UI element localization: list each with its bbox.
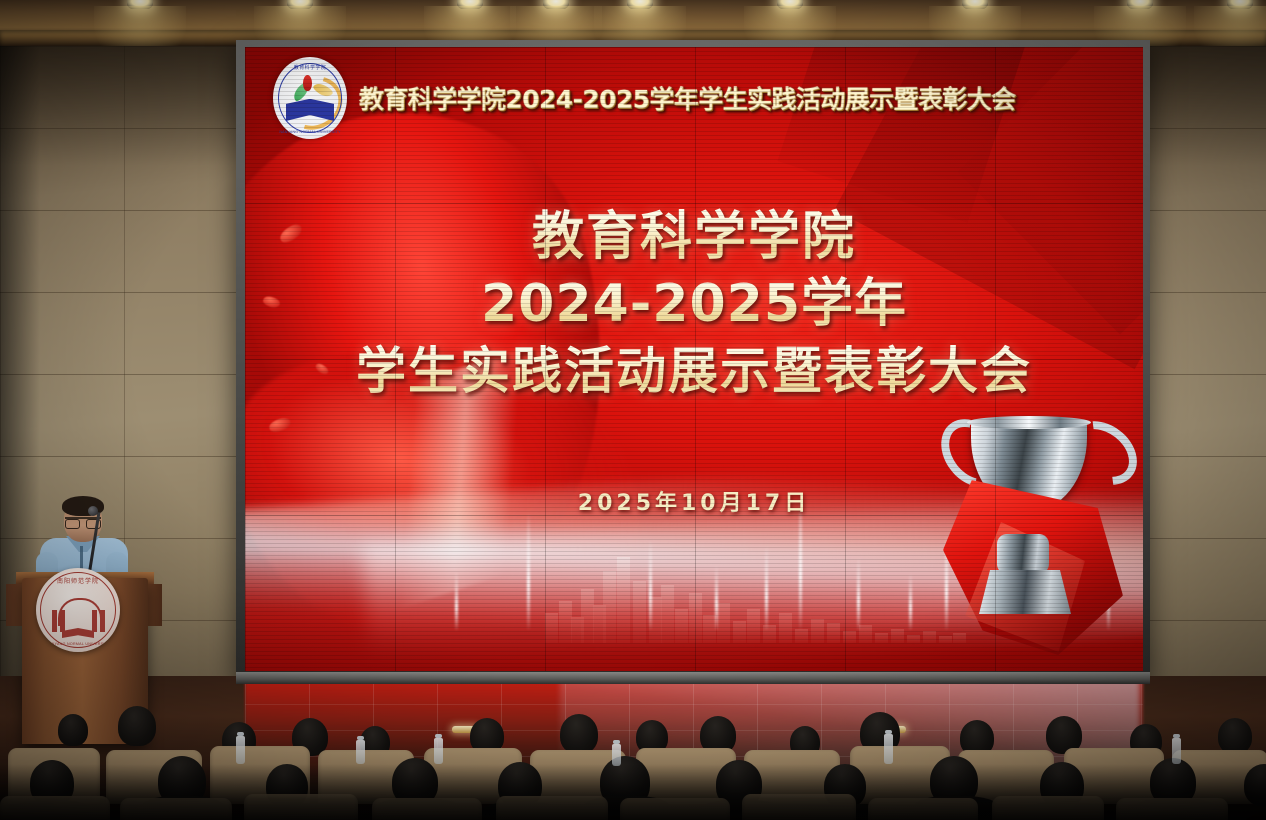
led-screen: 教育科学学院 NANYANG NORMAL UNIVERSITY 教育科学学院2… [245,47,1143,671]
university-seal-icon: 南阳师范学院 NANYANG NORMAL UNIVERSITY [36,568,120,652]
audience-area [0,700,1266,820]
ceiling-spot-light [777,0,803,9]
water-bottle [884,734,893,764]
trophy-base [979,570,1071,614]
light-beam [857,557,860,631]
light-beam [715,565,718,631]
trophy-rim [967,416,1091,429]
water-bottle [434,738,443,764]
light-beam [649,539,652,631]
bottle-cap [885,730,892,734]
audience-head [1218,718,1252,754]
trophy-knob [997,534,1049,574]
bottle-cap [357,736,364,740]
seal-top-text: 南阳师范学院 [36,576,120,585]
bottle-cap [435,734,442,738]
microphone-icon [88,506,98,516]
ceiling-spot-light [962,0,988,9]
main-title-line-3: 学生实践活动展示暨表彰大会 [245,342,1143,401]
college-emblem-icon: 教育科学学院 NANYANG NORMAL UNIVERSITY [273,57,347,139]
trophy-graphic [935,402,1125,662]
light-beam [765,545,768,631]
light-beam [455,571,458,631]
light-beam [909,573,912,631]
water-bottle [1172,738,1181,764]
emblem-top-text: 教育科学学院 [273,64,347,71]
ceiling-spot-light [543,0,569,9]
audience-head [58,714,88,746]
foreground-shadow [0,764,1266,820]
audience-head [560,714,598,754]
ceiling-spot-light [627,0,653,9]
bottle-cap [237,732,244,736]
main-title-line-1: 教育科学学院 [245,207,1143,268]
light-beam [527,513,530,631]
emblem-bottom-text: NANYANG NORMAL UNIVERSITY [273,130,347,134]
water-bottle [612,744,621,766]
screen-header: 教育科学学院 NANYANG NORMAL UNIVERSITY 教育科学学院2… [245,61,1143,135]
auditorium-photo: 教育科学学院 NANYANG NORMAL UNIVERSITY 教育科学学院2… [0,0,1266,820]
water-bottle [236,736,245,764]
ceiling-spot-light [1127,0,1153,9]
bottle-cap [1173,734,1180,738]
ceiling-spot-light [127,0,153,9]
main-title-line-2: 2024-2025学年 [245,274,1143,335]
ceiling-spot-light [1227,0,1253,9]
ceiling-spot-light [457,0,483,9]
screen-header-title: 教育科学学院2024-2025学年学生实践活动展示暨表彰大会 [359,80,1016,116]
ceiling-spot-light [287,0,313,9]
event-date: 2025年10月17日 [245,485,1143,517]
bottle-cap [613,740,620,744]
screen-base-bar [236,672,1150,684]
wall-right-panels [1146,46,1266,736]
audience-head [118,706,156,746]
main-title-block: 教育科学学院 2024-2025学年 学生实践活动展示暨表彰大会 [245,207,1143,401]
seal-bottom-text: NANYANG NORMAL UNIVERSITY [36,642,120,646]
water-bottle [356,740,365,764]
